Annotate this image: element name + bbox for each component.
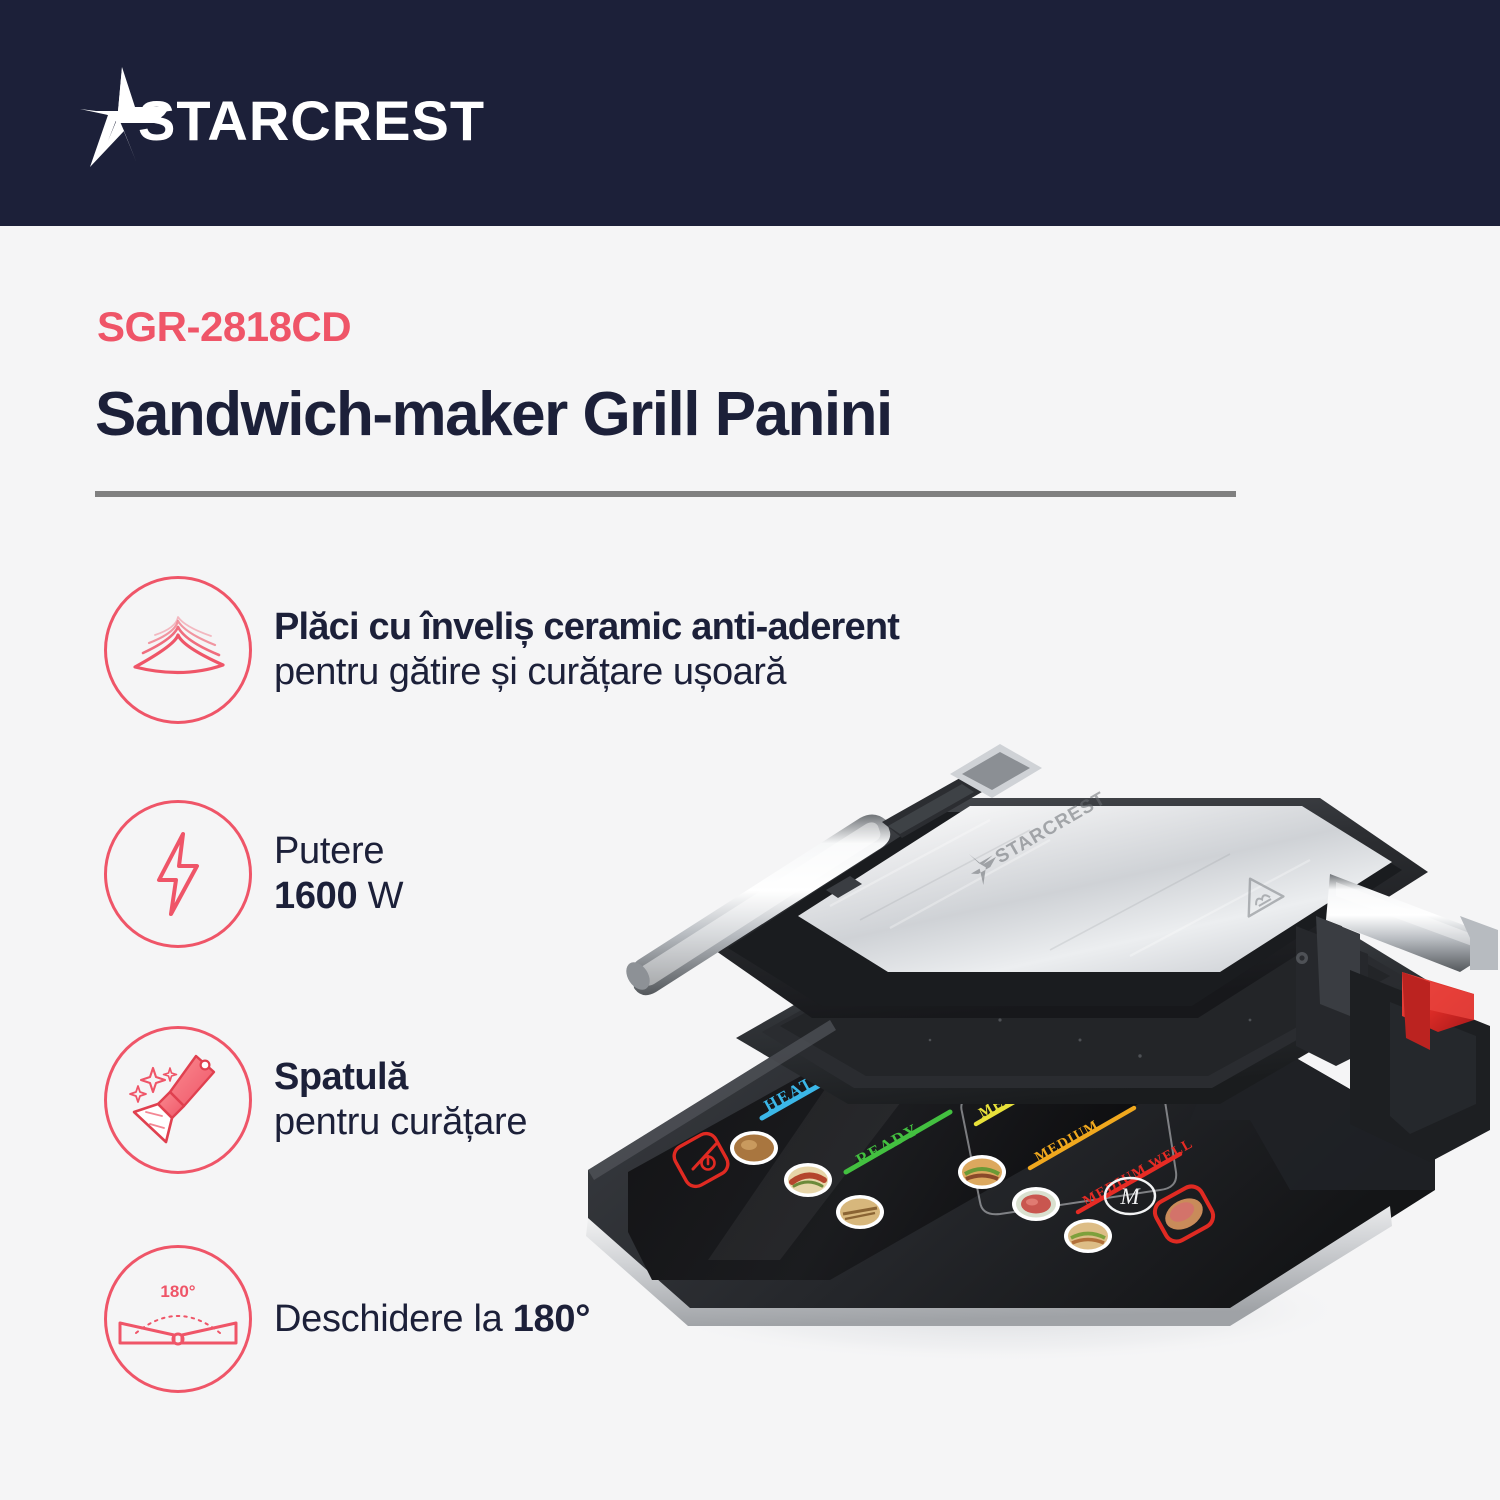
opening-prefix: Deschidere la: [274, 1298, 513, 1340]
feature-title: Spatulă: [274, 1055, 527, 1100]
burger-preset-icon: [958, 1155, 1006, 1189]
power-value: 1600: [274, 875, 357, 917]
brand-name: STARCREST: [138, 93, 485, 149]
power-unit: W: [368, 875, 404, 917]
feature-subtitle: 1600 W: [274, 874, 403, 919]
feature-title: Plăci cu înveliș ceramic anti-aderent: [274, 605, 899, 650]
panini-preset-icon: [836, 1195, 884, 1229]
feature-item-180-opening: 180° Deschidere la 180°: [104, 1245, 590, 1393]
feature-item-power: Putere 1600 W: [104, 800, 403, 948]
meat-preset-icon: [1012, 1187, 1060, 1221]
page-title: Sandwich-maker Grill Panini: [95, 382, 892, 447]
feature-subtitle: pentru gătire și curățare ușoară: [274, 650, 899, 695]
power-bolt-icon: [104, 800, 252, 948]
title-divider: [95, 491, 1236, 497]
sandwich-preset-icon: [1064, 1219, 1112, 1253]
memory-button-label: M: [1119, 1184, 1141, 1209]
feature-subtitle: pentru curățare: [274, 1100, 527, 1145]
poultry-preset-icon: [730, 1131, 778, 1165]
spatula-icon: [104, 1026, 252, 1174]
sausage-preset-icon: [784, 1163, 832, 1197]
feature-item-ceramic-plates: Plăci cu înveliș ceramic anti-aderent pe…: [104, 576, 899, 724]
brand-logo[interactable]: STARCREST: [78, 62, 521, 172]
product-image: HEATING READY MEDIUM RARE MEDIUM: [530, 720, 1500, 1420]
opening-180-icon: 180°: [104, 1245, 252, 1393]
product-model-code: SGR-2818CD: [97, 306, 351, 348]
feature-title: Putere: [274, 829, 403, 874]
ceramic-plates-icon: [104, 576, 252, 724]
page-header: STARCREST: [0, 0, 1500, 226]
opening-angle-label: 180°: [160, 1282, 195, 1301]
feature-item-spatula: Spatulă pentru curățare: [104, 1026, 527, 1174]
